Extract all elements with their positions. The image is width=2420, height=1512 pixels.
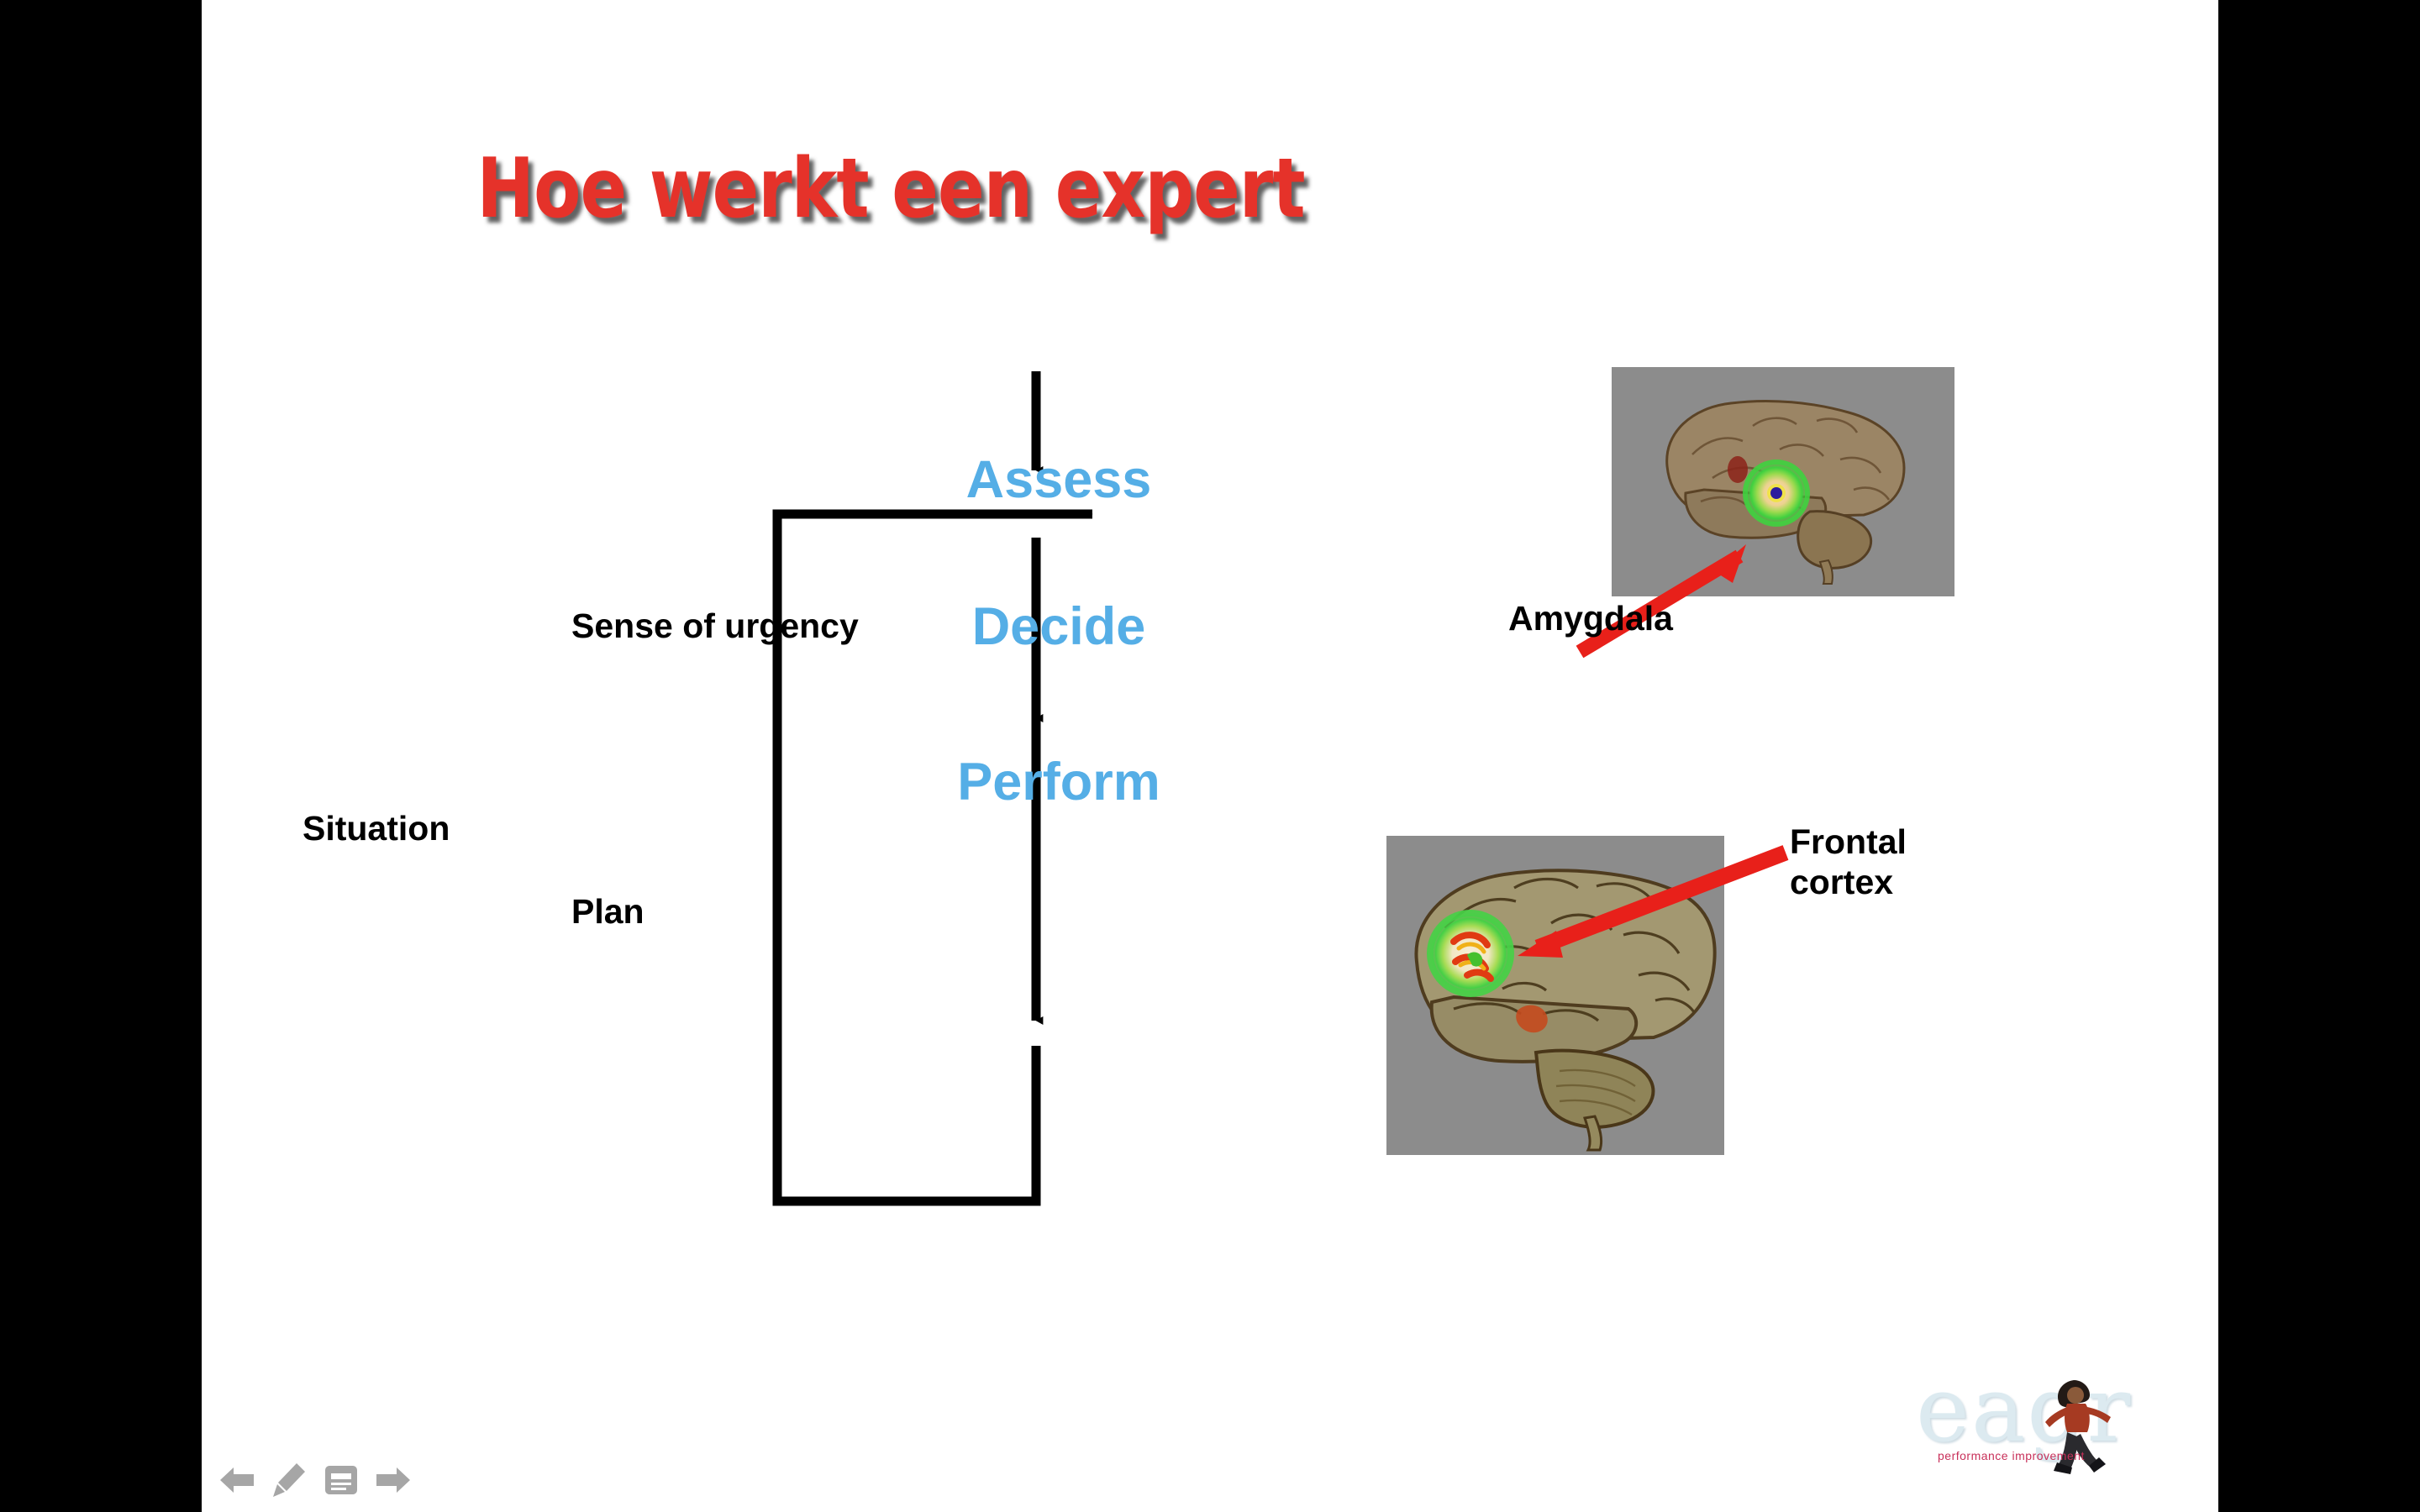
- presentation-viewer: Hoe werkt een expert Assess Decide: [0, 0, 2420, 1512]
- flow-node-decide: Decide: [899, 596, 1218, 657]
- figure-caption-amygdala: Amygdala: [1508, 598, 1673, 638]
- page-title: Hoe werkt een expert: [250, 141, 1531, 237]
- pencil-icon: [271, 1462, 307, 1499]
- edge-label-sense-of-urgency: Sense of urgency: [571, 606, 859, 646]
- eagr-logo: eagr performance improvement: [1916, 1365, 2176, 1478]
- arrow-left-icon: [218, 1463, 255, 1497]
- flow-node-assess: Assess: [899, 449, 1218, 510]
- arrow-right-icon: [375, 1463, 412, 1497]
- next-slide-button[interactable]: [373, 1460, 413, 1500]
- edge-label-situation: Situation: [302, 809, 450, 848]
- annotate-button[interactable]: [269, 1460, 309, 1500]
- brain-image-frontal-cortex: [1386, 836, 1724, 1155]
- brain-image-amygdala: [1612, 367, 1954, 596]
- brain-illustration-amygdala: [1612, 367, 1954, 596]
- edge-label-plan: Plan: [571, 892, 644, 932]
- menu-icon: [324, 1464, 359, 1496]
- flow-node-perform: Perform: [899, 752, 1218, 812]
- figure-caption-frontal-cortex: Frontal cortex: [1790, 822, 1907, 903]
- slide-canvas: Hoe werkt een expert Assess Decide: [202, 0, 2218, 1512]
- slide-menu-button[interactable]: [321, 1460, 361, 1500]
- previous-slide-button[interactable]: [217, 1460, 257, 1500]
- logo-tagline: performance improvement: [1938, 1449, 2085, 1462]
- brain-illustration-frontal-cortex: [1386, 836, 1724, 1155]
- presenter-toolbar: [217, 1458, 413, 1502]
